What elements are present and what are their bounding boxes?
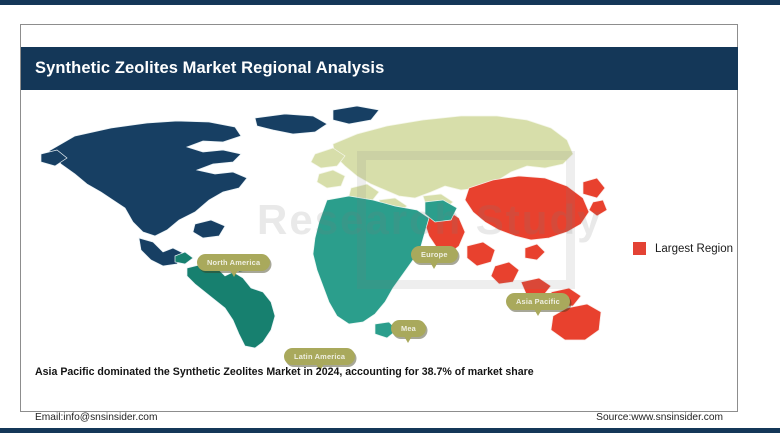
footer-source[interactable]: Source:www.snsinsider.com bbox=[596, 412, 723, 423]
footer-email[interactable]: Email:info@snsinsider.com bbox=[35, 412, 157, 423]
map-label-asia-pacific-text: Asia Pacific bbox=[516, 297, 560, 306]
map-label-europe-text: Europe bbox=[421, 250, 448, 259]
page-title: Synthetic Zeolites Market Regional Analy… bbox=[35, 59, 384, 78]
map-label-latin-america-text: Latin America bbox=[294, 352, 345, 361]
top-accent-line bbox=[0, 0, 780, 5]
report-card: Synthetic Zeolites Market Regional Analy… bbox=[20, 24, 738, 412]
legend: Largest Region bbox=[633, 242, 733, 255]
caption-text: Asia Pacific dominated the Synthetic Zeo… bbox=[35, 366, 534, 378]
map-label-latin-america[interactable]: Latin America bbox=[284, 348, 355, 365]
map-label-mea[interactable]: Mea bbox=[391, 320, 426, 337]
world-map[interactable]: Research Study North America Europe Asia… bbox=[27, 96, 607, 349]
world-map-svg bbox=[27, 96, 607, 349]
legend-label: Largest Region bbox=[655, 243, 733, 255]
map-label-europe[interactable]: Europe bbox=[411, 246, 458, 263]
legend-swatch-icon bbox=[633, 242, 646, 255]
map-label-mea-text: Mea bbox=[401, 324, 416, 333]
map-label-north-america[interactable]: North America bbox=[197, 254, 270, 271]
map-label-asia-pacific[interactable]: Asia Pacific bbox=[506, 293, 570, 310]
footer: Email:info@snsinsider.com Source:www.sns… bbox=[21, 400, 737, 434]
map-label-north-america-text: North America bbox=[207, 258, 260, 267]
body-area: Research Study North America Europe Asia… bbox=[21, 90, 737, 411]
header-bar: Synthetic Zeolites Market Regional Analy… bbox=[21, 47, 738, 90]
